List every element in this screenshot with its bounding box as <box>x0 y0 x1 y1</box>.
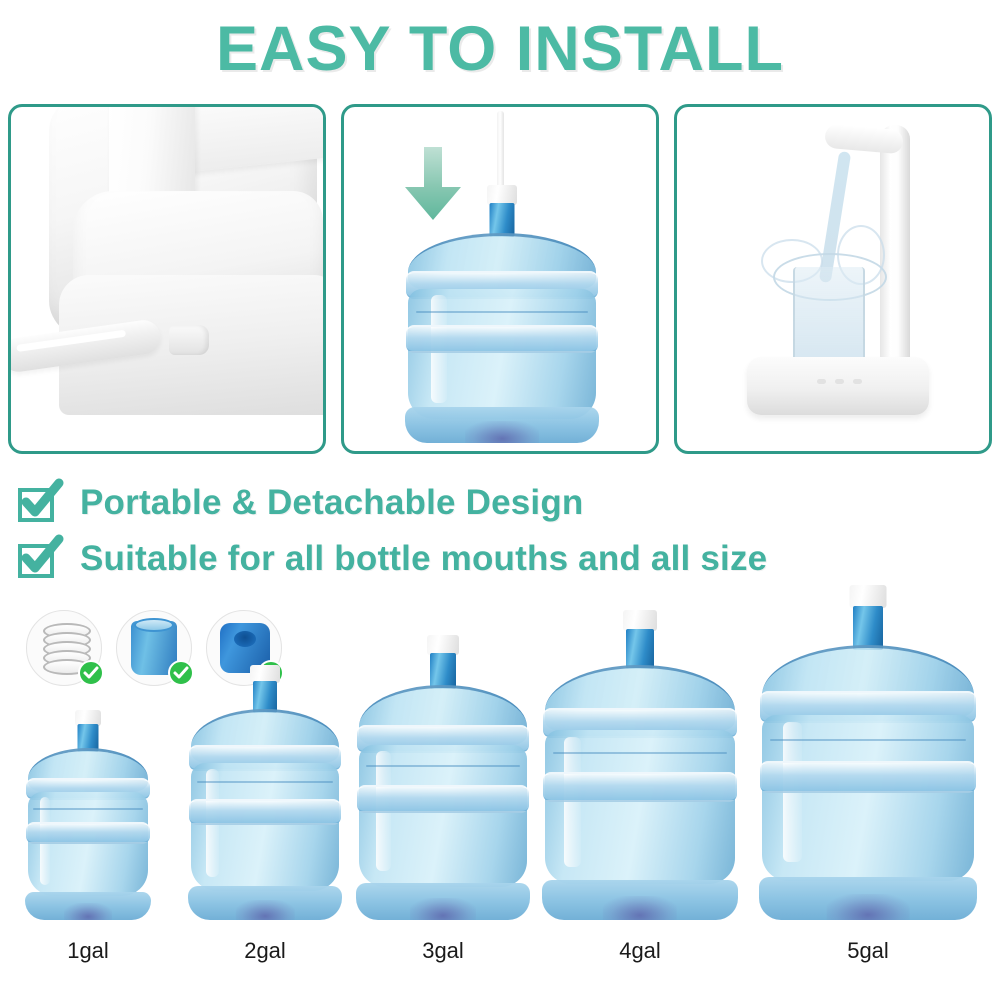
feature-label: Portable & Detachable Design <box>80 483 584 523</box>
dispenser-base <box>747 357 929 415</box>
bottle-size-item <box>191 665 339 920</box>
bottle-waterline <box>553 752 728 754</box>
bottle-body <box>408 289 596 419</box>
water-bottle-5gal <box>762 585 974 920</box>
bottle-size-label: 2gal <box>191 938 339 964</box>
bottle-rib <box>760 761 976 793</box>
bottle-size-label: 5gal <box>762 938 974 964</box>
photo-panel-row <box>8 104 992 456</box>
bottle-highlight <box>564 737 581 867</box>
dispenser-nozzle-icon <box>169 325 209 355</box>
panel-dispenser-tube <box>8 104 326 454</box>
bottle-body <box>191 763 339 891</box>
intake-straw <box>497 111 504 193</box>
panel-insert-bottle <box>341 104 659 454</box>
water-bottle-3gal <box>359 635 527 920</box>
bottle-cap <box>623 610 657 631</box>
water-bottle-1gal <box>28 710 148 920</box>
bottle-waterline <box>770 739 965 741</box>
bottle-rib <box>26 822 150 844</box>
bottle-cap <box>850 585 887 608</box>
bottle-base <box>25 892 151 920</box>
bottle-body <box>545 730 735 884</box>
bottle-rib <box>406 325 598 353</box>
bottle-size-item <box>545 610 735 920</box>
bottle-size-row <box>0 560 1000 920</box>
bottle-base <box>542 880 738 920</box>
bottle-neck <box>853 606 883 650</box>
checkbox-check-icon <box>16 482 60 524</box>
bottle-size-label: 1gal <box>28 938 148 964</box>
bottle-neck <box>430 653 456 689</box>
water-bottle-photo <box>408 185 596 443</box>
bottle-rib <box>357 785 529 813</box>
bottle-base <box>405 407 599 443</box>
water-bottle-4gal <box>545 610 735 920</box>
bottle-waterline <box>416 311 589 313</box>
bottle-neck <box>626 629 654 669</box>
bottle-cap <box>487 185 517 205</box>
infographic-root: EASY TO INSTALL <box>0 0 1000 1000</box>
bottle-size-item <box>762 585 974 920</box>
bottle-size-label: 4gal <box>545 938 735 964</box>
dispenser-button-icon <box>835 379 844 384</box>
dispenser-button-icon <box>817 379 826 384</box>
bottle-base <box>188 886 342 920</box>
bottle-waterline <box>366 765 521 767</box>
water-bottle-2gal <box>191 665 339 920</box>
panel-pouring-glass <box>674 104 992 454</box>
page-title: EASY TO INSTALL <box>0 14 1000 84</box>
bottle-waterline <box>33 808 143 810</box>
bottle-neck <box>490 203 515 237</box>
bottle-cap <box>427 635 459 655</box>
bottle-body <box>762 715 974 881</box>
feature-item: Portable & Detachable Design <box>16 478 976 528</box>
bottle-base <box>759 877 977 920</box>
bottle-size-item <box>359 635 527 920</box>
bottle-rib <box>543 772 737 802</box>
bottle-size-item <box>28 710 148 920</box>
dispenser-button-icon <box>853 379 862 384</box>
bottle-body <box>28 792 148 896</box>
bottle-waterline <box>197 781 333 783</box>
bottle-base <box>356 883 530 920</box>
bottle-size-label: 3gal <box>359 938 527 964</box>
bottle-rib <box>189 799 341 825</box>
drinking-glass <box>793 267 865 367</box>
bottle-body <box>359 745 527 887</box>
